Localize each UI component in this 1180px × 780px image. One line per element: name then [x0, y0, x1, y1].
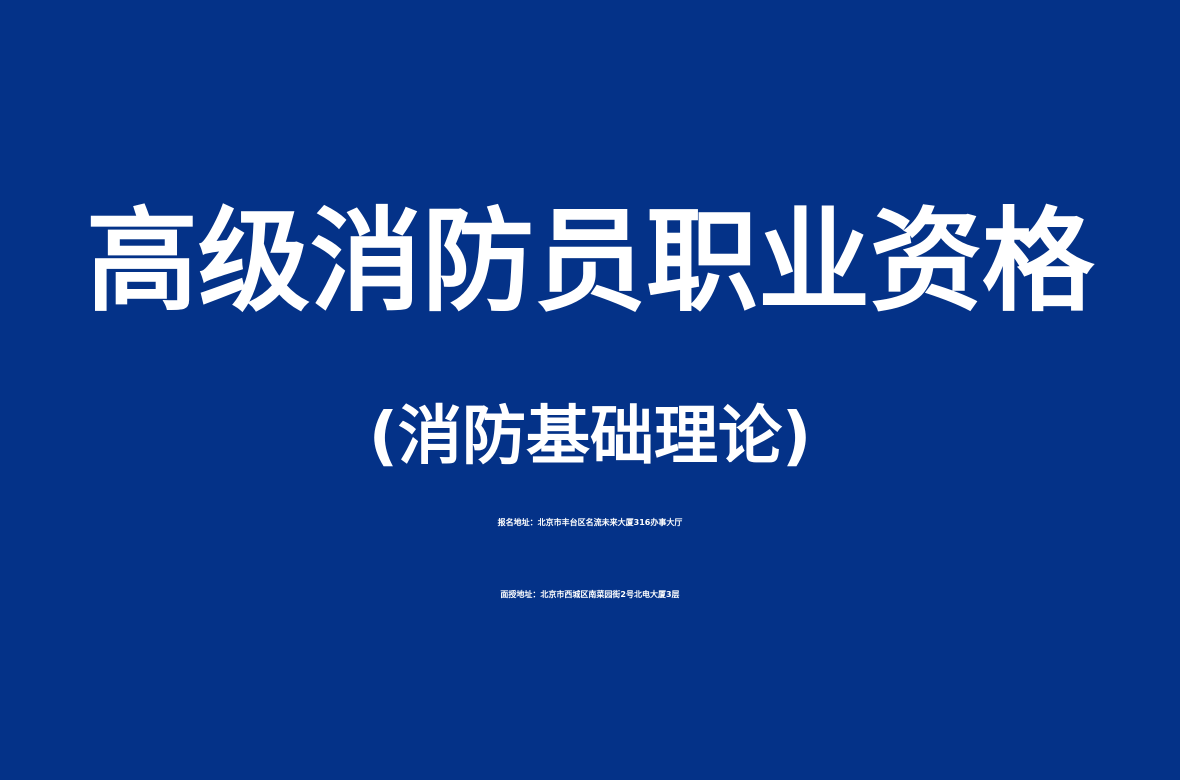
address-block: 报名地址：北京市丰台区名流未来大厦316办事大厅 面授地址：北京市西城区南菜园街… [0, 518, 1180, 600]
presentation-slide: 高级消防员职业资格 (消防基础理论) 报名地址：北京市丰台区名流未来大厦316办… [0, 0, 1180, 780]
subtitle-block: (消防基础理论) [0, 345, 1180, 529]
registration-address-value: 北京市丰台区名流未来大厦316办事大厅 [538, 518, 683, 527]
classroom-address-value: 北京市西城区南菜园街2号北电大厦3层 [540, 590, 679, 599]
page-subtitle: (消防基础理论) [369, 398, 812, 476]
page-title: 高级消防员职业资格 [86, 193, 1094, 332]
registration-address-label: 报名地址： [498, 518, 538, 527]
classroom-address-line: 面授地址：北京市西城区南菜园街2号北电大厦3层 [0, 590, 1180, 600]
registration-address-line: 报名地址：北京市丰台区名流未来大厦316办事大厅 [0, 518, 1180, 528]
classroom-address-label: 面授地址： [500, 590, 540, 599]
